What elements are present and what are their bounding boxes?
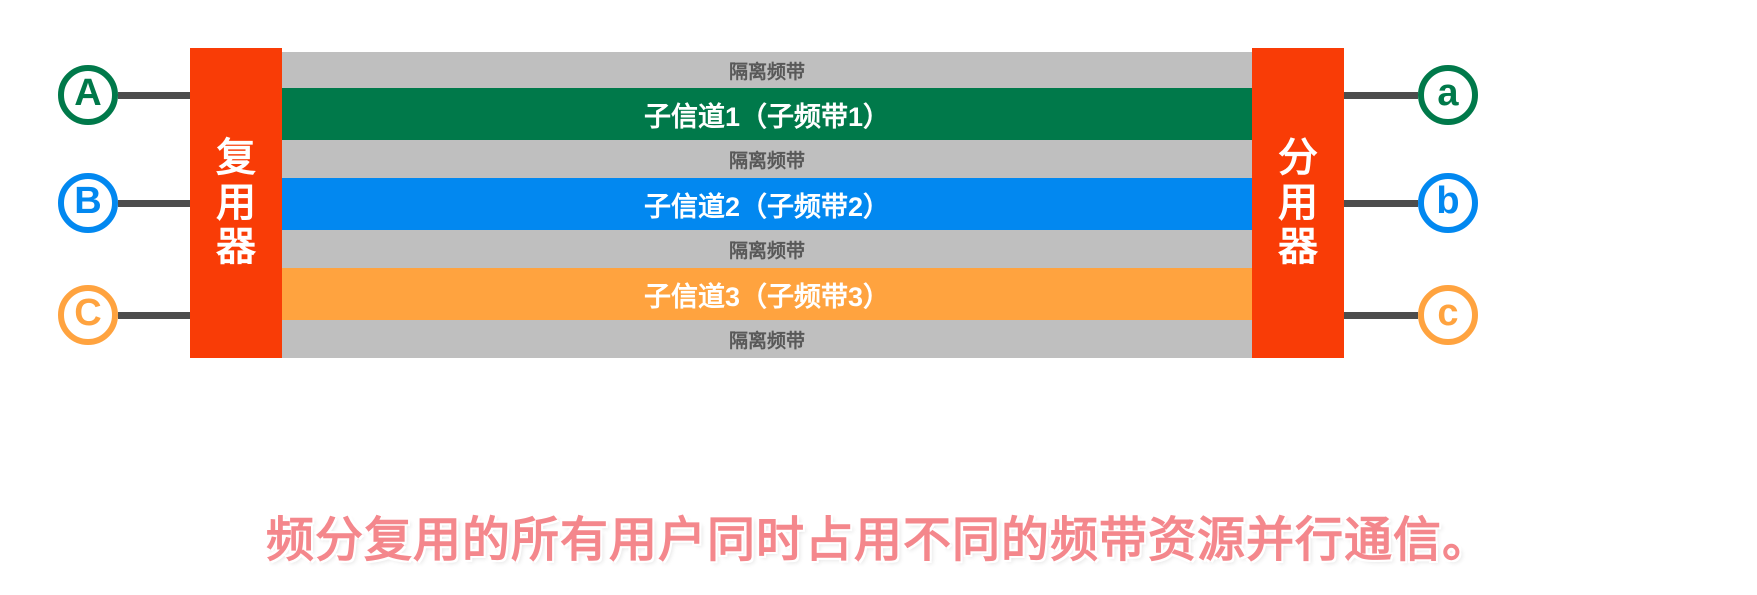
demultiplexer-char-3: 器: [1278, 225, 1318, 270]
demultiplexer-block[interactable]: 分 用 器: [1252, 48, 1344, 358]
band-channel-3[interactable]: 子信道3（子频带3）: [282, 268, 1252, 320]
multiplexer-block[interactable]: 复 用 器: [190, 48, 282, 358]
output-node-b[interactable]: b: [1418, 173, 1478, 233]
diagram-canvas: A B C 复 用 器 隔离频带 子信道1（子频带1） 隔离频带 子信道2（子频…: [0, 0, 1757, 595]
input-node-c-label: C: [74, 294, 101, 332]
band-channel-3-label: 子信道3（子频带3）: [644, 275, 890, 314]
wire-demultiplexer-to-c: [1344, 312, 1418, 319]
band-channel-1[interactable]: 子信道1（子频带1）: [282, 88, 1252, 140]
wire-demultiplexer-to-a: [1344, 92, 1418, 99]
wire-demultiplexer-to-b: [1344, 200, 1418, 207]
demultiplexer-char-1: 分: [1278, 136, 1318, 181]
band-guard-4: 隔离频带: [282, 320, 1252, 358]
output-node-b-label: b: [1436, 182, 1459, 220]
multiplexer-char-1: 复: [216, 136, 256, 181]
band-guard-3-label: 隔离频带: [729, 236, 805, 263]
multiplexer-char-2: 用: [216, 181, 256, 226]
band-guard-2: 隔离频带: [282, 140, 1252, 178]
wire-c-to-multiplexer: [118, 312, 192, 319]
input-node-a[interactable]: A: [58, 65, 118, 125]
spectrum-stack: 隔离频带 子信道1（子频带1） 隔离频带 子信道2（子频带2） 隔离频带 子信道…: [282, 52, 1252, 358]
output-node-c[interactable]: c: [1418, 285, 1478, 345]
input-node-c[interactable]: C: [58, 285, 118, 345]
band-channel-1-label: 子信道1（子频带1）: [644, 95, 890, 134]
band-guard-4-label: 隔离频带: [729, 326, 805, 353]
input-node-b-label: B: [74, 182, 101, 220]
demultiplexer-char-2: 用: [1278, 181, 1318, 226]
wire-a-to-multiplexer: [118, 92, 192, 99]
band-guard-3: 隔离频带: [282, 230, 1252, 268]
band-guard-1-label: 隔离频带: [729, 57, 805, 84]
output-node-a[interactable]: a: [1418, 65, 1478, 125]
multiplexer-char-3: 器: [216, 225, 256, 270]
band-guard-2-label: 隔离频带: [729, 146, 805, 173]
output-node-a-label: a: [1437, 74, 1458, 112]
output-node-c-label: c: [1437, 294, 1458, 332]
band-channel-2-label: 子信道2（子频带2）: [644, 185, 890, 224]
input-node-b[interactable]: B: [58, 173, 118, 233]
wire-b-to-multiplexer: [118, 200, 192, 207]
caption-text: 频分复用的所有用户同时占用不同的频带资源并行通信。: [0, 500, 1757, 570]
band-channel-2[interactable]: 子信道2（子频带2）: [282, 178, 1252, 230]
input-node-a-label: A: [74, 74, 101, 112]
band-guard-1: 隔离频带: [282, 52, 1252, 88]
